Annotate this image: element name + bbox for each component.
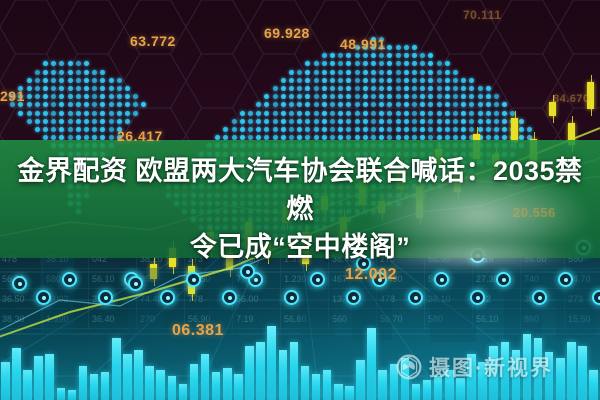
data-point-marker [240,264,255,279]
data-point-marker [470,290,485,305]
price-number: 291 [0,88,25,104]
price-number: 06.381 [172,322,224,340]
price-number: 63.772 [130,33,176,49]
data-point-marker [12,276,27,291]
price-number: 48.991 [340,36,386,52]
data-point-marker [128,276,143,291]
table-cell: 56.10 [92,274,115,284]
page-title: 金界配资 欧盟两大汽车协会联合喊话：2035禁燃 令已成“空中楼阁” [0,152,600,266]
price-number: 69.928 [264,25,310,41]
price-number: 12.002 [345,266,397,284]
table-cell: 778 [188,294,203,304]
data-point-marker [284,290,299,305]
headline-line-2: 令已成“空中楼阁” [0,228,600,266]
data-point-marker [36,290,51,305]
candlestick [511,118,518,142]
price-number: 70.111 [463,8,501,22]
data-point-marker [62,272,77,287]
camera-aperture-icon [396,354,422,380]
price-number: 26.417 [117,128,163,144]
data-point-marker [346,290,361,305]
watermark: 摄图·新视界 [396,352,553,382]
data-point-marker [532,290,547,305]
news-banner-image: 47838.1004238.2027338.301.39036.4027056.… [0,0,600,400]
data-point-marker [222,290,237,305]
table-cell: 56.00 [236,294,259,304]
watermark-text: 摄图·新视界 [429,352,553,382]
data-point-marker [186,272,201,287]
data-point-marker [160,290,175,305]
table-cell: 36.50 [2,294,25,304]
data-point-marker [98,290,113,305]
data-point-marker [592,290,600,305]
headline-line-1: 金界配资 欧盟两大汽车协会联合喊话：2035禁燃 [0,152,600,228]
data-point-marker [408,290,423,305]
price-number: 84.670 [553,93,590,105]
